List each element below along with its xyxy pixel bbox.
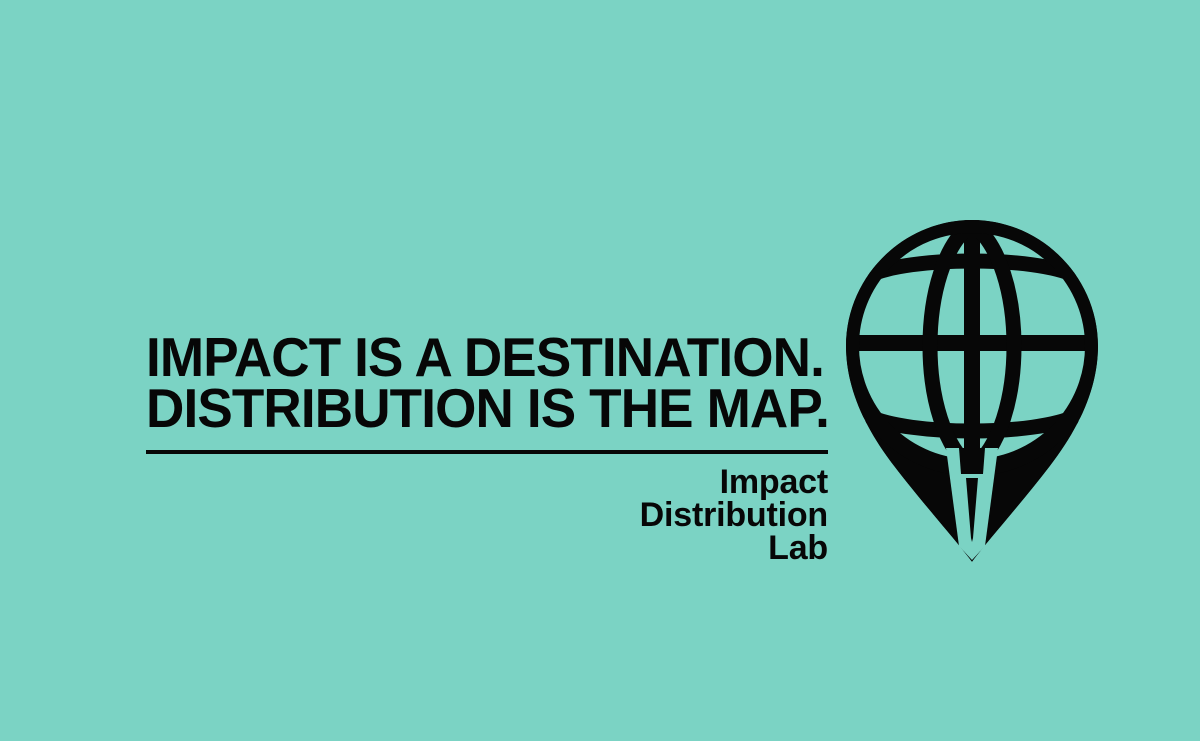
headline-line-2: DISTRIBUTION IS THE MAP. [146, 383, 806, 434]
subbrand-line-3: Lab [428, 532, 828, 565]
headline-block: IMPACT IS A DESTINATION. DISTRIBUTION IS… [146, 330, 830, 434]
subbrand-line-2: Distribution [428, 499, 828, 532]
globe-map-pin-nib-svg [842, 216, 1102, 568]
subbrand-line-1: Impact [428, 466, 828, 499]
banner-canvas: IMPACT IS A DESTINATION. DISTRIBUTION IS… [0, 0, 1200, 741]
divider-rule [146, 450, 828, 454]
globe-map-pin-nib-icon [842, 216, 1102, 568]
pen-nib-shoulder [959, 448, 985, 474]
headline-line-1: IMPACT IS A DESTINATION. [146, 330, 806, 383]
subbrand-lockup: Impact Distribution Lab [428, 466, 828, 565]
